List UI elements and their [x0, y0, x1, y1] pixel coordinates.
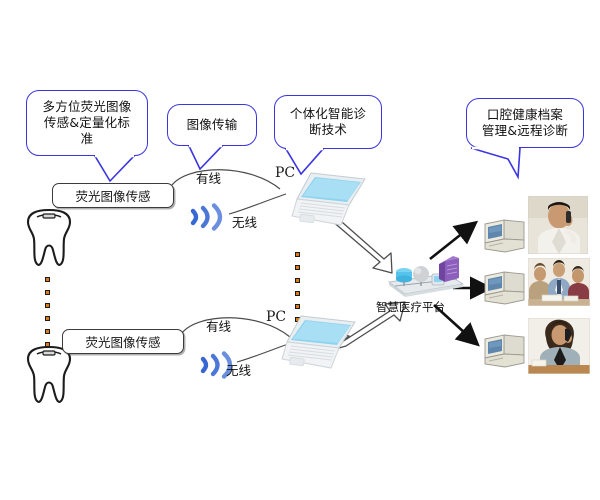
- callout-intelligent-diagnosis: 个体化智能诊 断技术: [274, 95, 382, 149]
- callout-multi-angle-sensing: 多方位荧光图像 传感&定量化标 准: [26, 90, 148, 156]
- smart-medical-platform-label: 智慧医疗平台: [376, 299, 445, 315]
- photo-doctor-on-phone: [528, 196, 588, 254]
- callout-image-transmission-text: 图像传输: [187, 117, 238, 133]
- link-wireless-upper-label: 无线: [232, 212, 257, 231]
- photo-clinical-team-meeting: [528, 258, 590, 306]
- tooth-upper: [20, 208, 78, 270]
- callout-tail-2: [186, 144, 230, 172]
- pc-lower-label: PC: [266, 309, 286, 325]
- callout-health-record-text: 口腔健康档案 管理&远程诊断: [482, 107, 568, 139]
- desktop-computer-icon-1: [483, 218, 529, 256]
- callout-tail-1: [90, 154, 140, 184]
- desktop-computer-icon-3: [483, 333, 529, 371]
- dotted-separator-left: [45, 277, 50, 355]
- link-wired-lower-label: 有线: [206, 316, 231, 335]
- smart-medical-platform: [373, 252, 465, 302]
- sensor-upper: 荧光图像传感: [52, 183, 174, 208]
- laptop-lower: [281, 314, 359, 376]
- callout-tail-3: [283, 147, 331, 177]
- sensor-upper-label: 荧光图像传感: [75, 186, 150, 205]
- link-wireless-lower-label: 无线: [226, 360, 251, 379]
- sensor-lower-label: 荧光图像传感: [85, 332, 160, 351]
- callout-image-transmission: 图像传输: [167, 104, 257, 146]
- callout-intelligent-diagnosis-text: 个体化智能诊 断技术: [290, 106, 366, 138]
- diagram-canvas: 多方位荧光图像 传感&定量化标 准 图像传输 个体化智能诊 断技术 口腔健康档案…: [0, 0, 600, 500]
- wifi-icon-upper: [186, 202, 232, 232]
- callout-multi-angle-sensing-text: 多方位荧光图像 传感&定量化标 准: [43, 99, 132, 147]
- desktop-computer-icon-2: [483, 270, 529, 308]
- callout-health-record: 口腔健康档案 管理&远程诊断: [466, 98, 584, 148]
- laptop-upper: [291, 171, 369, 233]
- callout-tail-4: [468, 146, 528, 180]
- photo-woman-on-phone: [528, 318, 590, 374]
- sensor-lower: 荧光图像传感: [62, 329, 184, 354]
